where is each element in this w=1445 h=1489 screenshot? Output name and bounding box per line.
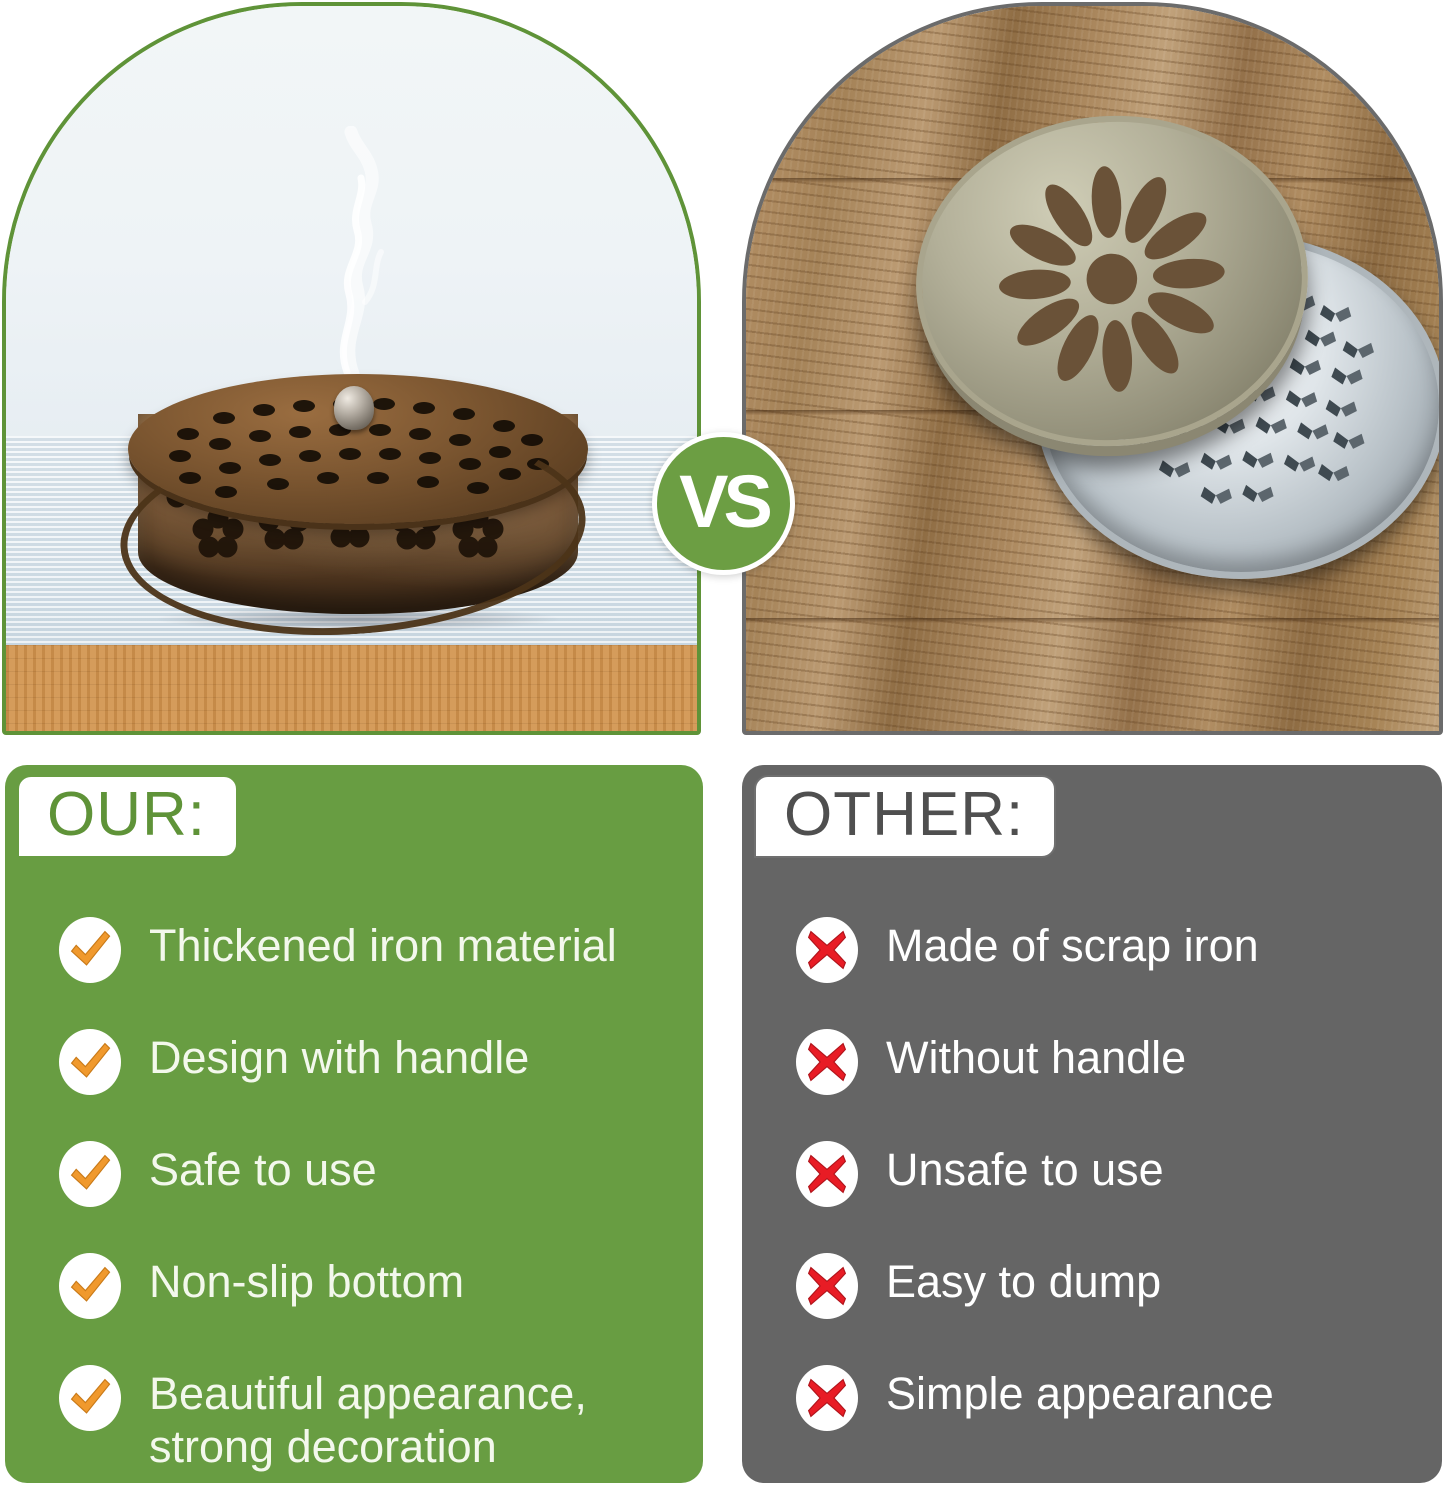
other-product-photo-inner (746, 6, 1439, 731)
red-cross-icon (796, 1029, 858, 1095)
lid-knob (334, 386, 374, 430)
other-panel-title-tag: OTHER: (754, 775, 1056, 858)
red-cross-icon (796, 1141, 858, 1207)
list-item-label: Without handle (886, 1027, 1186, 1084)
list-item-label: Non-slip bottom (149, 1251, 464, 1308)
orange-check-icon (59, 917, 121, 983)
list-item: Unsafe to use (796, 1139, 1426, 1207)
other-features-panel: OTHER: Made of scrap iron Without handle… (742, 765, 1442, 1483)
other-product-photo (742, 2, 1443, 735)
wood-table-edge (6, 645, 697, 731)
orange-check-icon (59, 1253, 121, 1319)
list-item: Easy to dump (796, 1251, 1426, 1319)
vs-badge: VS (652, 432, 795, 575)
list-item: Thickened iron material (59, 915, 687, 983)
our-features-list: Thickened iron material Design with hand… (5, 915, 703, 1469)
red-cross-icon (796, 1253, 858, 1319)
list-item-label: Safe to use (149, 1139, 377, 1196)
list-item-label: Beautiful appearance, strong decoration (149, 1363, 587, 1473)
comparison-infographic: VS OUR: Thickened iron material Design w… (0, 0, 1445, 1489)
list-item-label: Made of scrap iron (886, 915, 1259, 972)
list-item: Made of scrap iron (796, 915, 1426, 983)
other-features-list: Made of scrap iron Without handle Unsafe… (742, 915, 1442, 1469)
list-item-label: Easy to dump (886, 1251, 1161, 1308)
list-item: Non-slip bottom (59, 1251, 687, 1319)
plank-seam (746, 618, 1439, 623)
red-cross-icon (796, 917, 858, 983)
photo-comparison-row: VS (0, 0, 1445, 740)
our-panel-title-tag: OUR: (17, 775, 238, 858)
list-item-label: Design with handle (149, 1027, 529, 1084)
red-cross-icon (796, 1365, 858, 1431)
plain-coil-tin-product (916, 116, 1439, 586)
petal-cutouts (943, 135, 1281, 423)
orange-check-icon (59, 1365, 121, 1431)
list-item: Beautiful appearance, strong decoration (59, 1363, 687, 1473)
list-item-label: Thickened iron material (149, 915, 617, 972)
our-panel-title: OUR: (47, 783, 206, 846)
our-features-panel: OUR: Thickened iron material Design with… (5, 765, 703, 1483)
coil-holder-product (128, 344, 588, 644)
list-item: Design with handle (59, 1027, 687, 1095)
orange-check-icon (59, 1141, 121, 1207)
vs-label: VS (679, 465, 768, 539)
list-item: Without handle (796, 1027, 1426, 1095)
list-item: Safe to use (59, 1139, 687, 1207)
our-product-photo (2, 2, 701, 735)
list-item-label: Simple appearance (886, 1363, 1274, 1420)
list-item-label: Unsafe to use (886, 1139, 1164, 1196)
orange-check-icon (59, 1029, 121, 1095)
our-product-photo-inner (6, 6, 697, 731)
list-item: Simple appearance (796, 1363, 1426, 1431)
other-panel-title: OTHER: (784, 783, 1024, 846)
wood-grain-texture (6, 645, 697, 731)
